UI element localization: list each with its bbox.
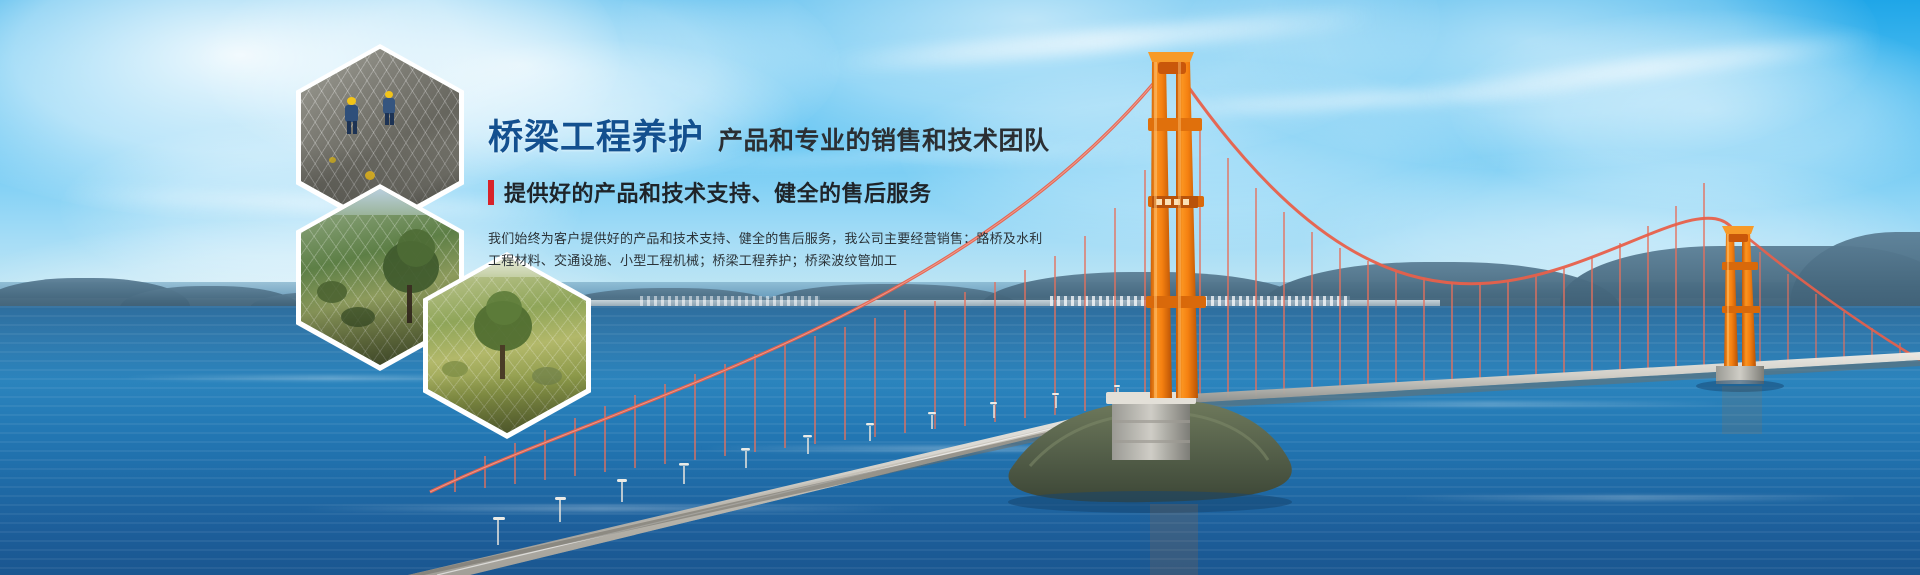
cloud-streak: [1420, 30, 1879, 106]
red-accent-bar: [488, 180, 494, 205]
banner-body-text: 我们始终为客户提供好的产品和技术支持、健全的售后服务，我公司主要经营销售：路桥及…: [488, 228, 1048, 272]
hero-banner: 桥梁工程养护 产品和专业的销售和技术团队 提供好的产品和技术支持、健全的售后服务…: [0, 0, 1920, 575]
body-line: 我们始终为客户提供好的产品和技术支持、健全的售后服务，我公司主要经营销售：路桥及…: [488, 228, 1048, 250]
cloud-streak: [820, 6, 1380, 77]
subline-row: 提供好的产品和技术支持、健全的售后服务: [488, 176, 1048, 208]
water-glint: [300, 506, 900, 511]
banner-copy: 桥梁工程养护 产品和专业的销售和技术团队 提供好的产品和技术支持、健全的售后服务…: [488, 118, 1048, 272]
headline-sub: 产品和专业的销售和技术团队: [718, 126, 1050, 156]
water-glint: [1400, 496, 1860, 500]
body-line: 工程材料、交通设施、小型工程机械；桥梁工程养护；桥梁波纹管加工: [488, 250, 1048, 272]
water-glint: [1250, 402, 1730, 406]
sea-water: [0, 306, 1920, 575]
headline-main: 桥梁工程养护: [488, 118, 704, 158]
water-glint: [700, 446, 1220, 451]
headline-row: 桥梁工程养护 产品和专业的销售和技术团队: [488, 118, 1048, 158]
subline-text: 提供好的产品和技术支持、健全的售后服务: [504, 176, 932, 208]
